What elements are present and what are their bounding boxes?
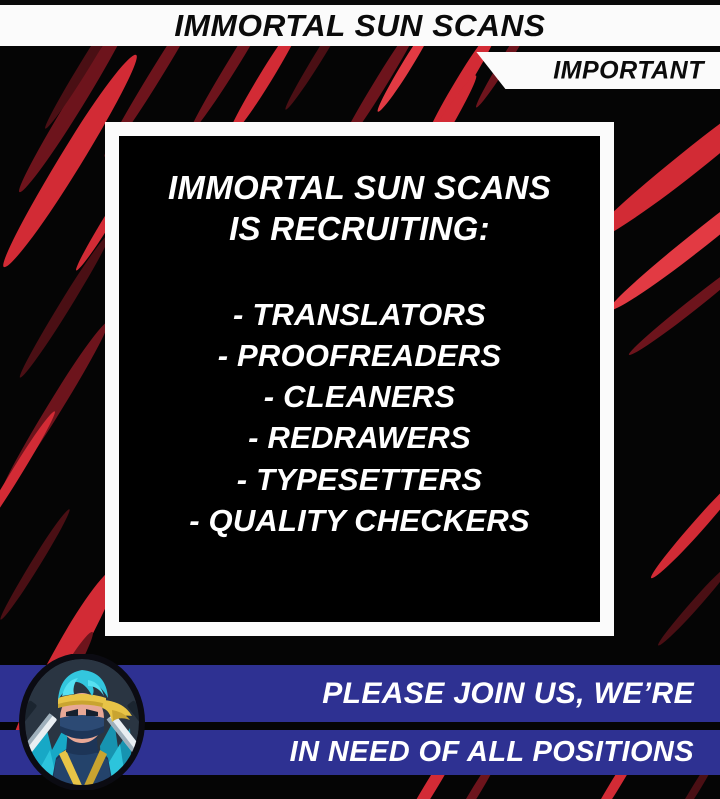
cta-line-2: IN NEED OF ALL POSITIONS (290, 738, 720, 767)
recruitment-headline: IMMORTAL SUN SCANS IS RECRUITING: (168, 168, 551, 250)
list-item: - PROOFREADERS (119, 335, 600, 376)
ninja-mascot-logo-icon (16, 654, 148, 790)
list-item: - TRANSLATORS (119, 294, 600, 335)
list-item: - TYPESETTERS (119, 459, 600, 500)
important-badge: IMPORTANT (430, 52, 720, 89)
open-roles-list: - TRANSLATORS - PROOFREADERS - CLEANERS … (119, 294, 600, 541)
list-item: - CLEANERS (119, 376, 600, 417)
recruitment-panel: IMMORTAL SUN SCANS IS RECRUITING: - TRAN… (119, 136, 600, 622)
headline-line-1: IMMORTAL SUN SCANS (168, 168, 551, 209)
list-item: - QUALITY CHECKERS (119, 500, 600, 541)
header-title-band: IMMORTAL SUN SCANS (0, 5, 720, 46)
status-badge: IMPORTANT (553, 58, 704, 83)
headline-line-2: IS RECRUITING: (168, 209, 551, 250)
recruitment-poster: IMMORTAL SUN SCANS IMPORTANT IMMORTAL SU… (0, 0, 720, 799)
page-title: IMMORTAL SUN SCANS (174, 10, 545, 41)
list-item: - REDRAWERS (119, 417, 600, 458)
cta-line-1: PLEASE JOIN US, WE’RE (322, 679, 720, 709)
